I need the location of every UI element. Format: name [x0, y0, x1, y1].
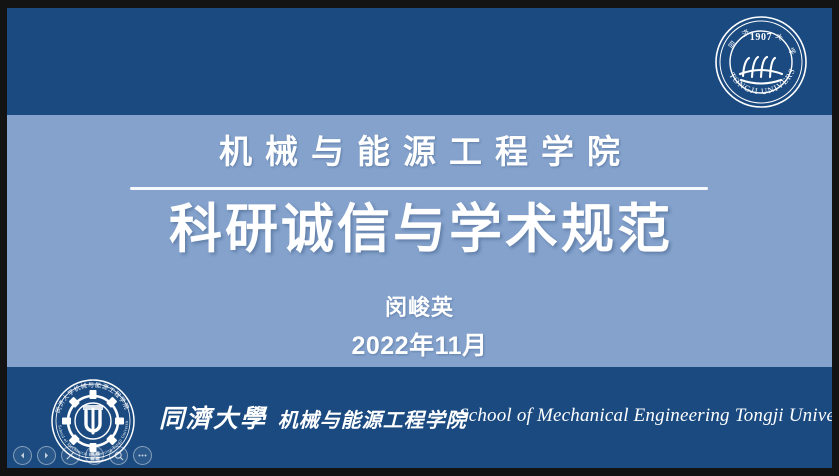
svg-text:1907: 1907	[750, 32, 772, 43]
presenter-toolbar	[13, 446, 152, 465]
previous-slide-button[interactable]	[13, 446, 32, 465]
presentation-date: 2022年11月	[7, 326, 832, 362]
viewport-edge-top	[0, 0, 839, 8]
footer-chinese-name: 同濟大學 机械与能源工程学院	[159, 399, 467, 435]
chevron-left-icon	[18, 451, 27, 460]
svg-text:同: 同	[727, 40, 738, 50]
tongji-university-seal-icon: 1907 同 济 大 学	[713, 14, 809, 110]
footer-university-name: 同濟大學	[159, 404, 267, 433]
slide-canvas[interactable]: 1907 同 济 大 学	[7, 8, 832, 468]
footer-english-name: School of Mechanical Engineering Tongji …	[459, 405, 832, 427]
pen-icon	[65, 450, 76, 461]
all-slides-button[interactable]	[85, 446, 104, 465]
viewport-edge-left	[0, 0, 7, 476]
viewport-edge-bottom	[0, 468, 839, 476]
next-slide-button[interactable]	[37, 446, 56, 465]
ellipsis-icon	[137, 450, 148, 461]
title-divider	[130, 187, 708, 190]
chevron-right-icon	[42, 451, 51, 460]
more-options-button[interactable]	[133, 446, 152, 465]
slide-header-band: 1907 同 济 大 学	[7, 8, 832, 115]
footer-college-name: 机械与能源工程学院	[278, 408, 467, 432]
slide-title: 科研诚信与学术规范	[7, 199, 832, 262]
presenter-name: 闵峻英	[7, 290, 832, 322]
grid-icon	[90, 451, 100, 461]
pen-annotation-button[interactable]	[61, 446, 80, 465]
zoom-slide-button[interactable]	[109, 446, 128, 465]
school-name-heading: 机械与能源工程学院	[7, 135, 832, 170]
magnifier-icon	[114, 451, 124, 461]
slide-body-band: 机械与能源工程学院 科研诚信与学术规范 闵峻英 2022年11月	[7, 115, 832, 367]
slideshow-viewport: 1907 同 济 大 学	[0, 0, 839, 476]
viewport-edge-right	[832, 0, 839, 476]
